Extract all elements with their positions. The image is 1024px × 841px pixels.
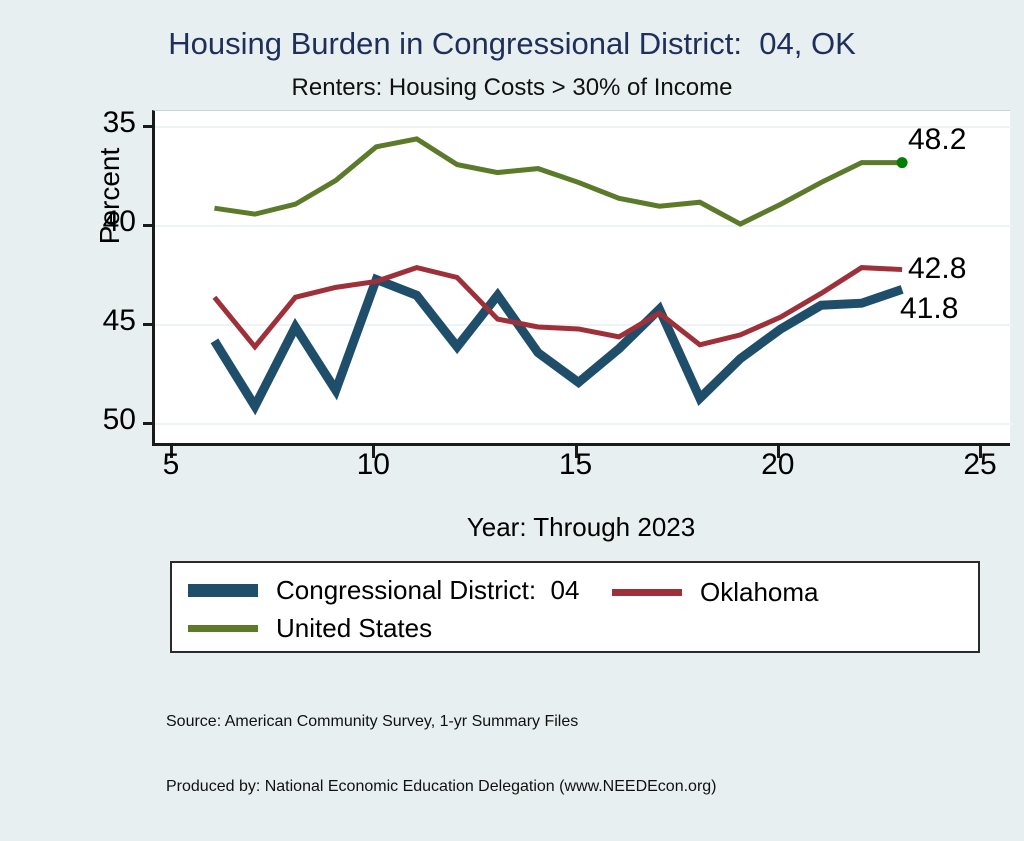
x-tick-label: 15 (546, 448, 606, 482)
series-line-1 (214, 268, 902, 347)
legend-item-0[interactable]: Congressional District: 04 (188, 573, 579, 607)
legend-item-2[interactable]: United States (188, 611, 432, 645)
y-tick-label: 45 (78, 304, 136, 338)
legend-swatch-0 (188, 584, 258, 597)
series-line-2 (214, 139, 902, 224)
legend-label-0: Congressional District: 04 (276, 575, 579, 606)
end-label-oklahoma: 42.8 (908, 252, 966, 286)
chart-legend: Congressional District: 04OklahomaUnited… (170, 561, 980, 653)
y-tick (143, 224, 152, 227)
legend-label-2: United States (276, 613, 432, 644)
footer-producer: Produced by: National Economic Education… (166, 776, 717, 798)
x-tick-label: 20 (748, 448, 808, 482)
y-tick (143, 125, 152, 128)
series-line-0 (214, 279, 902, 406)
data-series-group (155, 111, 1013, 444)
footer-source: Source: American Community Survey, 1-yr … (166, 711, 717, 733)
y-tick-label: 50 (78, 403, 136, 437)
legend-item-1[interactable]: Oklahoma (612, 575, 819, 609)
x-axis-line (152, 443, 1010, 446)
x-tick-label: 25 (950, 448, 1010, 482)
series-end-marker-2 (897, 157, 908, 168)
y-tick (143, 323, 152, 326)
end-label-district: 41.8 (900, 292, 958, 326)
chart-subtitle: Renters: Housing Costs > 30% of Income (0, 74, 1024, 102)
legend-label-1: Oklahoma (700, 577, 819, 608)
end-label-united-states: 48.2 (908, 123, 966, 157)
y-tick (143, 422, 152, 425)
x-tick-label: 5 (141, 448, 201, 482)
x-axis-label: Year: Through 2023 (152, 512, 1010, 543)
legend-swatch-2 (188, 625, 258, 632)
plot-area (152, 110, 1010, 443)
y-tick-label: 40 (78, 205, 136, 239)
y-tick-label: 35 (78, 106, 136, 140)
chart-title: Housing Burden in Congressional District… (0, 26, 1024, 62)
plot-inner (155, 111, 1010, 443)
chart-figure: Housing Burden in Congressional District… (0, 0, 1024, 745)
x-tick-label: 10 (343, 448, 403, 482)
footer-notes: Source: American Community Survey, 1-yr … (166, 668, 717, 841)
legend-swatch-1 (612, 589, 682, 596)
